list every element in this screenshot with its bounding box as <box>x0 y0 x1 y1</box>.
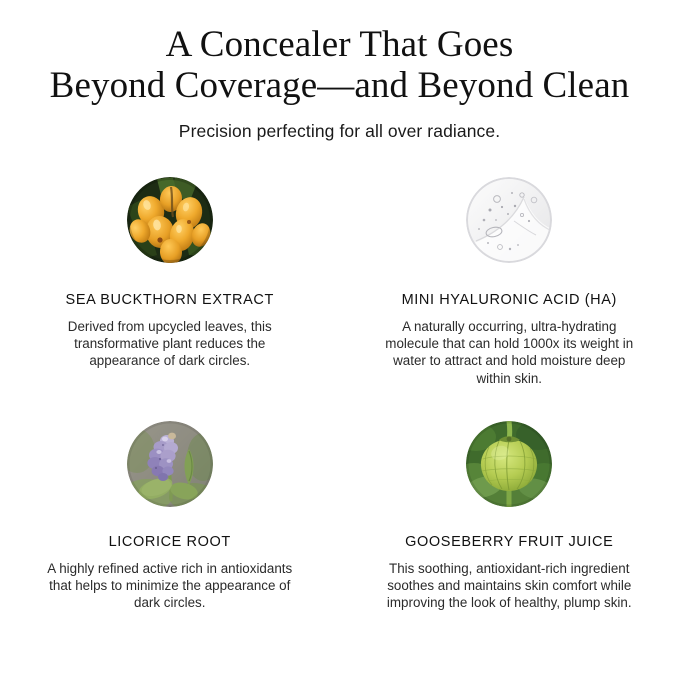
ingredient-name: MINI HYALURONIC ACID (HA) <box>402 291 617 309</box>
ingredient-description: A naturally occurring, ultra-hydrating m… <box>383 318 635 387</box>
ingredient-description: This soothing, antioxidant-rich ingredie… <box>383 560 635 612</box>
page-title: A Concealer That Goes Beyond Coverage—an… <box>0 24 679 106</box>
licorice-root-flower-photo <box>127 421 213 507</box>
ingredient-card-sea-buckthorn-extract: SEA BUCKTHORN EXTRACT Derived from upcyc… <box>0 161 340 387</box>
ingredient-description: A highly refined active rich in antioxid… <box>44 560 296 612</box>
header: A Concealer That Goes Beyond Coverage—an… <box>0 0 679 142</box>
sea-buckthorn-berries-photo <box>127 177 213 263</box>
ingredient-grid: SEA BUCKTHORN EXTRACT Derived from upcyc… <box>0 161 679 611</box>
ingredient-benefits-panel: A Concealer That Goes Beyond Coverage—an… <box>0 0 679 679</box>
ingredient-name: LICORICE ROOT <box>109 533 231 551</box>
ingredient-name: GOOSEBERRY FRUIT JUICE <box>405 533 613 551</box>
ingredient-card-mini-hyaluronic-acid: MINI HYALURONIC ACID (HA) A naturally oc… <box>340 161 679 387</box>
gooseberry-fruit-photo <box>466 421 552 507</box>
ingredient-card-gooseberry-fruit-juice: GOOSEBERRY FRUIT JUICE This soothing, an… <box>340 405 679 612</box>
ingredient-name: SEA BUCKTHORN EXTRACT <box>66 291 274 309</box>
ingredient-description: Derived from upcycled leaves, this trans… <box>44 318 296 370</box>
ingredient-card-licorice-root: LICORICE ROOT A highly refined active ri… <box>0 405 340 612</box>
headline-line-1: A Concealer That Goes <box>0 24 679 65</box>
page-subtitle: Precision perfecting for all over radian… <box>0 120 679 142</box>
headline-line-2: Beyond Coverage—and Beyond Clean <box>0 65 679 106</box>
hyaluronic-acid-gel-photo <box>466 177 552 263</box>
